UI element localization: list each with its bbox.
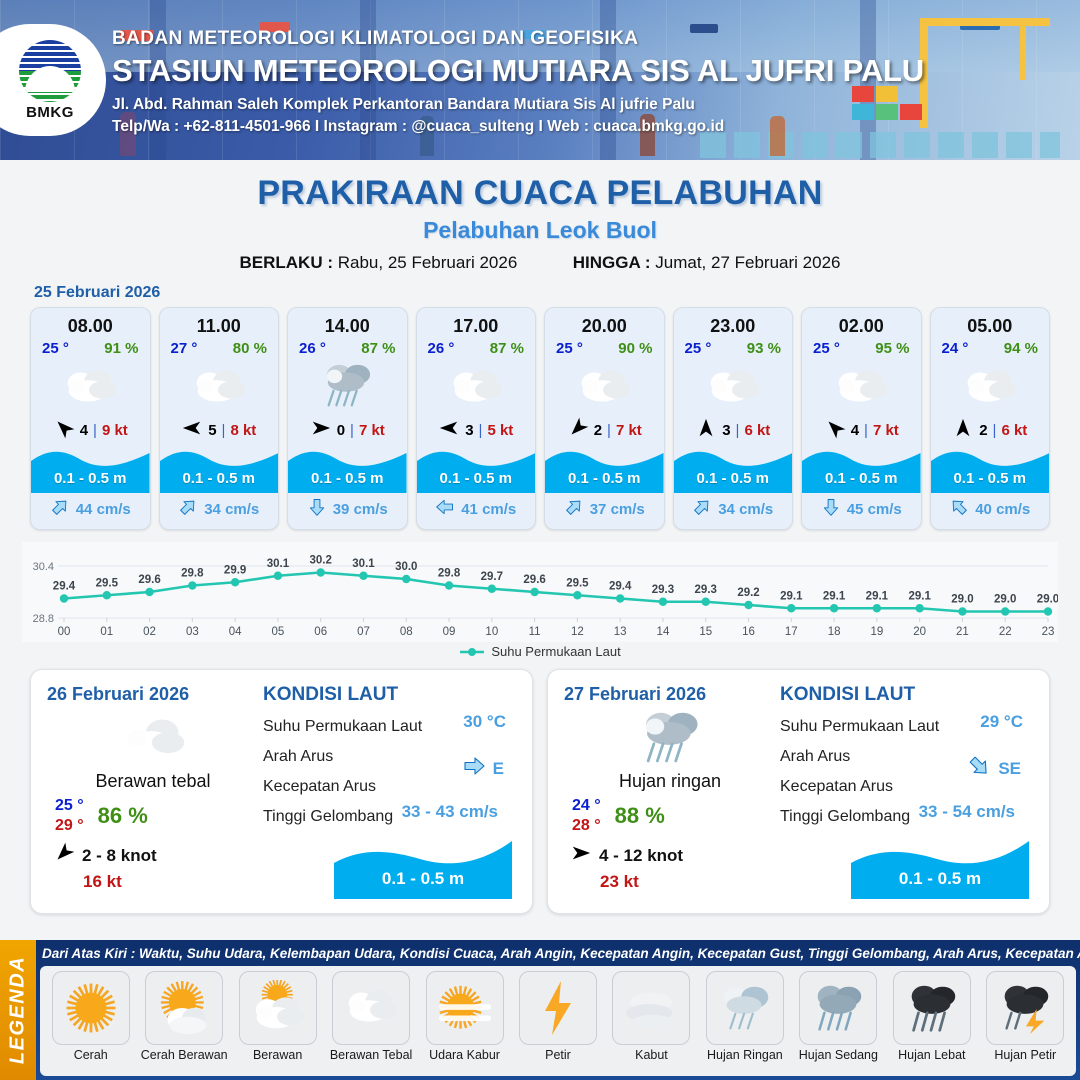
card-wind-degree: 3 bbox=[722, 422, 730, 439]
wind-direction-arrow-icon bbox=[824, 417, 846, 443]
legend-item: Hujan Ringan bbox=[698, 971, 791, 1076]
svg-text:06: 06 bbox=[314, 626, 327, 638]
current-direction-value-group: E bbox=[462, 754, 504, 783]
daily-wave-height: 0.1 - 0.5 m bbox=[851, 869, 1029, 889]
card-wind-degree: 4 bbox=[851, 422, 859, 439]
card-wave: 0.1 - 0.5 m bbox=[674, 447, 793, 493]
card-wave-height: 0.1 - 0.5 m bbox=[674, 470, 793, 487]
wind-direction-arrow-icon bbox=[567, 417, 589, 443]
sst-chart: 30.428.829.40029.50129.60229.80329.90430… bbox=[22, 542, 1058, 642]
hourly-card: 02.00 25 ° 95 % 4 | 7 kt 0.1 - 0.5 m 45 … bbox=[801, 307, 922, 530]
wind-direction-arrow-icon bbox=[952, 417, 974, 443]
svg-text:03: 03 bbox=[186, 626, 199, 638]
hujan-sedang-icon bbox=[799, 971, 877, 1045]
berawan-icon bbox=[674, 357, 793, 415]
legend-item: Berawan Tebal bbox=[324, 971, 417, 1076]
current-direction-arrow-icon bbox=[564, 497, 584, 521]
daily-humidity: 88 % bbox=[615, 803, 665, 829]
hourly-card: 23.00 25 ° 93 % 3 | 6 kt 0.1 - 0.5 m 34 … bbox=[673, 307, 794, 530]
card-wave-height: 0.1 - 0.5 m bbox=[417, 470, 536, 487]
legend-item-label: Hujan Sedang bbox=[799, 1048, 878, 1062]
card-current-speed: 41 cm/s bbox=[461, 501, 516, 518]
daily-condition: Berawan tebal bbox=[47, 771, 259, 792]
legend-item: Hujan Lebat bbox=[885, 971, 978, 1076]
legend-tab: LEGENDA bbox=[0, 940, 36, 1080]
daily-condition: Hujan ringan bbox=[564, 771, 776, 792]
cerah-icon bbox=[52, 971, 130, 1045]
card-time: 14.00 bbox=[288, 308, 407, 337]
card-wave: 0.1 - 0.5 m bbox=[31, 447, 150, 493]
svg-text:01: 01 bbox=[100, 626, 113, 638]
chart-legend-marker bbox=[459, 646, 485, 658]
svg-text:22: 22 bbox=[999, 626, 1012, 638]
card-wave-height: 0.1 - 0.5 m bbox=[288, 470, 407, 487]
berlaku-value: Rabu, 25 Februari 2026 bbox=[338, 253, 518, 272]
legend-item-label: Hujan Lebat bbox=[898, 1048, 965, 1062]
card-current-speed: 40 cm/s bbox=[975, 501, 1030, 518]
current-direction-arrow-icon bbox=[178, 497, 198, 521]
legend-item-label: Hujan Ringan bbox=[707, 1048, 783, 1062]
svg-text:29.0: 29.0 bbox=[951, 594, 973, 606]
berawan-icon bbox=[31, 357, 150, 415]
svg-text:11: 11 bbox=[529, 626, 541, 638]
card-temperature: 25 ° bbox=[42, 340, 69, 357]
card-current-speed: 45 cm/s bbox=[847, 501, 902, 518]
validity-row: BERLAKU : Rabu, 25 Februari 2026 HINGGA … bbox=[0, 253, 1080, 273]
current-direction-value: E bbox=[493, 759, 504, 779]
svg-text:13: 13 bbox=[614, 626, 627, 638]
card-wind-degree: 0 bbox=[337, 422, 345, 439]
svg-text:29.5: 29.5 bbox=[566, 577, 589, 589]
berawan-icon bbox=[802, 357, 921, 415]
sea-condition-title: KONDISI LAUT bbox=[780, 684, 1033, 706]
card-temperature: 26 ° bbox=[299, 340, 326, 357]
chart-legend-label: Suhu Permukaan Laut bbox=[491, 644, 620, 659]
card-temperature: 25 ° bbox=[556, 340, 583, 357]
berlaku-label: BERLAKU : bbox=[240, 253, 334, 272]
card-wind-gust: 7 kt bbox=[359, 422, 385, 439]
svg-text:28.8: 28.8 bbox=[33, 613, 54, 625]
legend-item-label: Petir bbox=[545, 1048, 571, 1062]
card-time: 08.00 bbox=[31, 308, 150, 337]
daily-temp-max: 29 ° bbox=[55, 816, 84, 836]
svg-text:30.4: 30.4 bbox=[33, 561, 54, 573]
berawan-tebal-icon bbox=[332, 971, 410, 1045]
daily-wave-height: 0.1 - 0.5 m bbox=[334, 869, 512, 889]
berawan-icon bbox=[417, 357, 536, 415]
card-temperature: 24 ° bbox=[942, 340, 969, 357]
station-contact: Telp/Wa : +62-811-4501-966 I Instagram :… bbox=[112, 118, 924, 136]
card-temperature: 26 ° bbox=[428, 340, 455, 357]
card-humidity: 87 % bbox=[490, 340, 524, 357]
sst-value: 30 °C bbox=[463, 712, 506, 732]
card-wave: 0.1 - 0.5 m bbox=[288, 447, 407, 493]
svg-text:30.1: 30.1 bbox=[267, 558, 290, 570]
card-humidity: 94 % bbox=[1004, 340, 1038, 357]
svg-text:30.0: 30.0 bbox=[395, 561, 417, 573]
svg-text:30.1: 30.1 bbox=[352, 558, 375, 570]
hourly-day-label: 25 Februari 2026 bbox=[34, 284, 1080, 302]
card-time: 20.00 bbox=[545, 308, 664, 337]
legend-item: Udara Kabur bbox=[418, 971, 511, 1076]
current-direction-value: SE bbox=[998, 759, 1021, 779]
card-wind-gust: 7 kt bbox=[616, 422, 642, 439]
berawan-icon bbox=[545, 357, 664, 415]
svg-text:15: 15 bbox=[699, 626, 712, 638]
card-wave-height: 0.1 - 0.5 m bbox=[31, 470, 150, 487]
card-wind-degree: 2 bbox=[979, 422, 987, 439]
card-temperature: 25 ° bbox=[813, 340, 840, 357]
svg-text:29.7: 29.7 bbox=[481, 571, 503, 583]
daily-forecast-panel: 26 Februari 2026 Berawan tebal 25 ° 29 °… bbox=[30, 669, 533, 914]
title-section: PRAKIRAAN CUACA PELABUHAN Pelabuhan Leok… bbox=[0, 160, 1080, 273]
hourly-card: 14.00 26 ° 87 % 0 | 7 kt 0.1 - 0.5 m bbox=[287, 307, 408, 530]
daily-gust: 23 kt bbox=[564, 872, 776, 892]
hourly-card: 17.00 26 ° 87 % 3 | 5 kt 0.1 - 0.5 m 41 … bbox=[416, 307, 537, 530]
card-wave: 0.1 - 0.5 m bbox=[545, 447, 664, 493]
daily-forecast-panel: 27 Februari 2026 Hujan ringan 24 ° 28 ° … bbox=[547, 669, 1050, 914]
svg-text:10: 10 bbox=[485, 626, 498, 638]
svg-text:09: 09 bbox=[443, 626, 456, 638]
current-speed-value: 33 - 43 cm/s bbox=[402, 802, 498, 822]
svg-text:02: 02 bbox=[143, 626, 156, 638]
card-wave: 0.1 - 0.5 m bbox=[160, 447, 279, 493]
daily-humidity: 86 % bbox=[98, 803, 148, 829]
card-wind-gust: 8 kt bbox=[230, 422, 256, 439]
page-subtitle: Pelabuhan Leok Buol bbox=[0, 217, 1080, 244]
wind-direction-arrow-icon bbox=[695, 417, 717, 443]
legend-icon-strip: Cerah Cerah Berawan Berawan Berawan Teba… bbox=[40, 966, 1076, 1076]
card-wind-gust: 5 kt bbox=[487, 422, 513, 439]
svg-text:29.8: 29.8 bbox=[438, 568, 461, 580]
card-current-speed: 44 cm/s bbox=[76, 501, 131, 518]
svg-text:14: 14 bbox=[657, 626, 670, 638]
wind-direction-arrow-icon bbox=[438, 417, 460, 443]
legend-item: Hujan Sedang bbox=[792, 971, 885, 1076]
card-wave-height: 0.1 - 0.5 m bbox=[931, 470, 1050, 487]
daily-date: 27 Februari 2026 bbox=[564, 684, 776, 705]
udara-kabur-icon bbox=[426, 971, 504, 1045]
card-wind-degree: 2 bbox=[594, 422, 602, 439]
petir-icon bbox=[519, 971, 597, 1045]
legend-footer: LEGENDA Dari Atas Kiri : Waktu, Suhu Uda… bbox=[0, 940, 1080, 1080]
card-wave: 0.1 - 0.5 m bbox=[417, 447, 536, 493]
card-wave-height: 0.1 - 0.5 m bbox=[545, 470, 664, 487]
card-temperature: 25 ° bbox=[685, 340, 712, 357]
svg-text:29.0: 29.0 bbox=[994, 594, 1016, 606]
daily-wave-badge: 0.1 - 0.5 m bbox=[334, 837, 512, 899]
card-humidity: 95 % bbox=[875, 340, 909, 357]
hingga-label: HINGGA : bbox=[573, 253, 651, 272]
current-direction-arrow-icon bbox=[50, 497, 70, 521]
svg-text:17: 17 bbox=[785, 626, 798, 638]
svg-text:21: 21 bbox=[956, 626, 969, 638]
svg-text:23: 23 bbox=[1042, 626, 1055, 638]
card-humidity: 90 % bbox=[618, 340, 652, 357]
card-wind-degree: 5 bbox=[208, 422, 216, 439]
legend-item: Berawan bbox=[231, 971, 324, 1076]
hourly-card: 05.00 24 ° 94 % 2 | 6 kt 0.1 - 0.5 m 40 … bbox=[930, 307, 1051, 530]
bmkg-logo-icon bbox=[19, 40, 81, 102]
daily-wind-range: 4 - 12 knot bbox=[599, 846, 683, 866]
berawan-tebal-icon bbox=[47, 707, 259, 769]
legend-item: Cerah bbox=[44, 971, 137, 1076]
hujan-lebat-icon bbox=[893, 971, 971, 1045]
station-address: Jl. Abd. Rahman Saleh Komplek Perkantora… bbox=[112, 96, 924, 114]
svg-text:29.6: 29.6 bbox=[523, 574, 545, 586]
current-direction-arrow-icon bbox=[821, 497, 841, 521]
card-humidity: 80 % bbox=[233, 340, 267, 357]
current-direction-arrow-icon bbox=[692, 497, 712, 521]
legend-item-label: Berawan Tebal bbox=[330, 1048, 412, 1062]
svg-text:18: 18 bbox=[828, 626, 841, 638]
svg-text:05: 05 bbox=[272, 626, 285, 638]
svg-text:29.2: 29.2 bbox=[737, 587, 759, 599]
svg-text:29.3: 29.3 bbox=[695, 584, 717, 596]
card-time: 11.00 bbox=[160, 308, 279, 337]
svg-text:30.2: 30.2 bbox=[310, 555, 332, 567]
hourly-card: 08.00 25 ° 91 % 4 | 9 kt 0.1 - 0.5 m 44 … bbox=[30, 307, 151, 530]
daily-date: 26 Februari 2026 bbox=[47, 684, 259, 705]
daily-forecast-row: 26 Februari 2026 Berawan tebal 25 ° 29 °… bbox=[0, 659, 1080, 914]
kabut-icon bbox=[612, 971, 690, 1045]
card-time: 02.00 bbox=[802, 308, 921, 337]
svg-text:16: 16 bbox=[742, 626, 755, 638]
daily-wave-badge: 0.1 - 0.5 m bbox=[851, 837, 1029, 899]
legend-item-label: Udara Kabur bbox=[429, 1048, 500, 1062]
svg-text:29.4: 29.4 bbox=[53, 581, 76, 593]
svg-text:29.6: 29.6 bbox=[138, 574, 160, 586]
card-humidity: 91 % bbox=[104, 340, 138, 357]
card-wind-degree: 4 bbox=[80, 422, 88, 439]
daily-wind-direction-arrow-icon bbox=[570, 842, 592, 869]
daily-temp-min: 24 ° bbox=[572, 796, 601, 816]
current-direction-value-group: SE bbox=[967, 754, 1021, 783]
current-speed-value: 33 - 54 cm/s bbox=[919, 802, 1015, 822]
svg-text:04: 04 bbox=[229, 626, 242, 638]
daily-current-arrow-icon bbox=[967, 754, 991, 783]
card-wave: 0.1 - 0.5 m bbox=[802, 447, 921, 493]
daily-wind-range: 2 - 8 knot bbox=[82, 846, 157, 866]
card-time: 23.00 bbox=[674, 308, 793, 337]
card-time: 05.00 bbox=[931, 308, 1050, 337]
hourly-card: 11.00 27 ° 80 % 5 | 8 kt 0.1 - 0.5 m 34 … bbox=[159, 307, 280, 530]
station-name: STASIUN METEOROLOGI MUTIARA SIS AL JUFRI… bbox=[112, 53, 924, 89]
berawan-icon bbox=[160, 357, 279, 415]
card-wind-gust: 6 kt bbox=[744, 422, 770, 439]
svg-text:29.5: 29.5 bbox=[96, 577, 119, 589]
card-wave-height: 0.1 - 0.5 m bbox=[160, 470, 279, 487]
page-header: BMKG BADAN METEOROLOGI KLIMATOLOGI DAN G… bbox=[0, 0, 1080, 160]
legend-tab-label: LEGENDA bbox=[7, 956, 30, 1064]
current-direction-arrow-icon bbox=[949, 497, 969, 521]
hingga-value: Jumat, 27 Februari 2026 bbox=[655, 253, 840, 272]
daily-current-arrow-icon bbox=[462, 754, 486, 783]
bmkg-logo-text: BMKG bbox=[26, 104, 74, 121]
legend-item-label: Hujan Petir bbox=[994, 1048, 1056, 1062]
legend-item: Hujan Petir bbox=[979, 971, 1072, 1076]
svg-text:29.1: 29.1 bbox=[866, 590, 889, 602]
card-current-speed: 34 cm/s bbox=[718, 501, 773, 518]
hujan-ringan-icon bbox=[564, 707, 776, 769]
wind-direction-arrow-icon bbox=[181, 417, 203, 443]
card-time: 17.00 bbox=[417, 308, 536, 337]
wind-direction-arrow-icon bbox=[310, 417, 332, 443]
svg-text:08: 08 bbox=[400, 626, 413, 638]
card-humidity: 93 % bbox=[747, 340, 781, 357]
legend-note: Dari Atas Kiri : Waktu, Suhu Udara, Kele… bbox=[42, 946, 1080, 961]
card-wind-gust: 6 kt bbox=[1001, 422, 1027, 439]
card-wind-gust: 9 kt bbox=[102, 422, 128, 439]
legend-item-label: Cerah bbox=[74, 1048, 108, 1062]
svg-text:29.9: 29.9 bbox=[224, 564, 246, 576]
daily-wind-direction-arrow-icon bbox=[53, 842, 75, 869]
svg-text:07: 07 bbox=[357, 626, 370, 638]
card-temperature: 27 ° bbox=[171, 340, 198, 357]
card-wave-height: 0.1 - 0.5 m bbox=[802, 470, 921, 487]
svg-text:29.4: 29.4 bbox=[609, 581, 632, 593]
agency-name: BADAN METEOROLOGI KLIMATOLOGI DAN GEOFIS… bbox=[112, 28, 924, 50]
daily-temp-max: 28 ° bbox=[572, 816, 601, 836]
hourly-forecast-row: 08.00 25 ° 91 % 4 | 9 kt 0.1 - 0.5 m 44 … bbox=[0, 307, 1080, 530]
current-direction-arrow-icon bbox=[435, 497, 455, 521]
hourly-card: 20.00 25 ° 90 % 2 | 7 kt 0.1 - 0.5 m 37 … bbox=[544, 307, 665, 530]
sea-condition-title: KONDISI LAUT bbox=[263, 684, 516, 706]
sst-value: 29 °C bbox=[980, 712, 1023, 732]
berawan-icon bbox=[239, 971, 317, 1045]
legend-item-label: Cerah Berawan bbox=[141, 1048, 228, 1062]
card-wind-gust: 7 kt bbox=[873, 422, 899, 439]
hujan-petir-icon bbox=[986, 971, 1064, 1045]
svg-text:29.1: 29.1 bbox=[823, 590, 846, 602]
svg-text:12: 12 bbox=[571, 626, 584, 638]
daily-temp-min: 25 ° bbox=[55, 796, 84, 816]
svg-text:29.1: 29.1 bbox=[780, 590, 803, 602]
svg-text:19: 19 bbox=[870, 626, 883, 638]
hujan-ringan-icon bbox=[706, 971, 784, 1045]
card-wave: 0.1 - 0.5 m bbox=[931, 447, 1050, 493]
chart-legend: Suhu Permukaan Laut bbox=[0, 644, 1080, 659]
wind-direction-arrow-icon bbox=[53, 417, 75, 443]
berawan-icon bbox=[931, 357, 1050, 415]
svg-text:20: 20 bbox=[913, 626, 926, 638]
page-title: PRAKIRAAN CUACA PELABUHAN bbox=[0, 174, 1080, 213]
legend-item: Cerah Berawan bbox=[137, 971, 230, 1076]
current-direction-arrow-icon bbox=[307, 497, 327, 521]
card-wind-degree: 3 bbox=[465, 422, 473, 439]
legend-item-label: Berawan bbox=[253, 1048, 302, 1062]
card-current-speed: 37 cm/s bbox=[590, 501, 645, 518]
card-current-speed: 34 cm/s bbox=[204, 501, 259, 518]
svg-text:29.8: 29.8 bbox=[181, 568, 204, 580]
card-current-speed: 39 cm/s bbox=[333, 501, 388, 518]
svg-text:29.1: 29.1 bbox=[908, 590, 931, 602]
hujan-ringan-icon bbox=[288, 357, 407, 415]
cerah-berawan-icon bbox=[145, 971, 223, 1045]
card-humidity: 87 % bbox=[361, 340, 395, 357]
legend-item: Petir bbox=[511, 971, 604, 1076]
svg-text:29.3: 29.3 bbox=[652, 584, 674, 596]
daily-gust: 16 kt bbox=[47, 872, 259, 892]
legend-item: Kabut bbox=[605, 971, 698, 1076]
svg-text:29.0: 29.0 bbox=[1037, 594, 1058, 606]
legend-item-label: Kabut bbox=[635, 1048, 668, 1062]
svg-text:00: 00 bbox=[58, 626, 71, 638]
